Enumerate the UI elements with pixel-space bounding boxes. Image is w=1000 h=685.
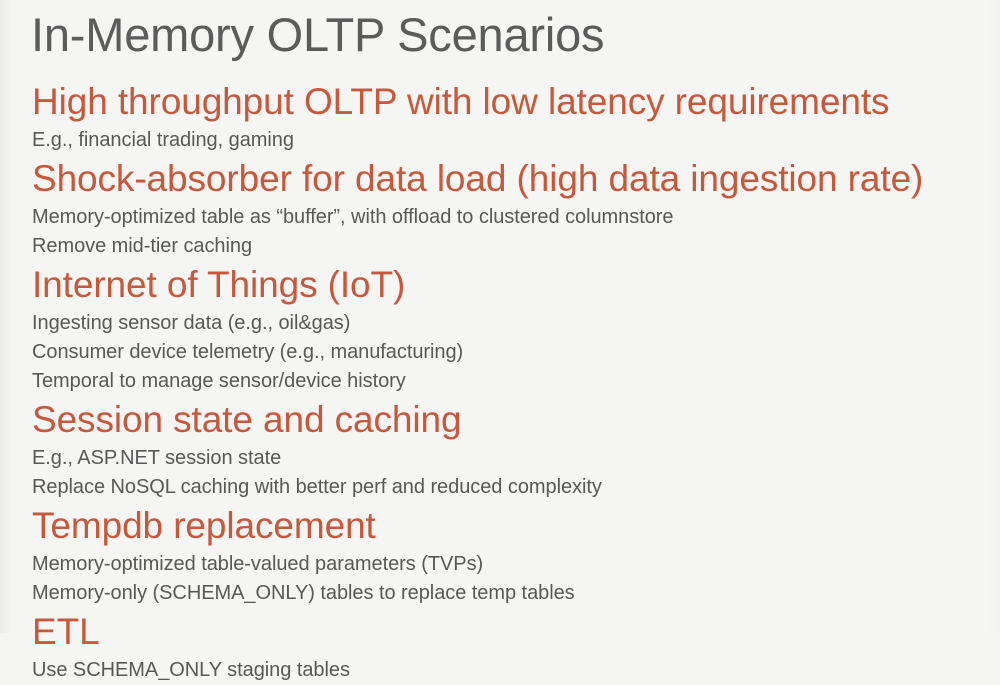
scenario-bullet: Temporal to manage sensor/device history [0, 367, 1000, 396]
scenario-section: Shock-absorber for data load (high data … [0, 155, 1000, 261]
scenario-heading: Internet of Things (IoT) [0, 261, 1000, 309]
slide-content-body: High throughput OLTP with low latency re… [0, 78, 1000, 685]
scenario-heading: Tempdb replacement [0, 502, 1000, 550]
scenario-bullet: Use SCHEMA_ONLY staging tables [0, 656, 1000, 685]
scenario-heading: High throughput OLTP with low latency re… [0, 78, 1000, 126]
scenario-bullet-list: Memory-optimized table-valued parameters… [0, 550, 1000, 608]
scenario-bullet-list: E.g., financial trading, gaming [0, 126, 1000, 155]
scenario-bullet: Memory-optimized table as “buffer”, with… [0, 203, 1000, 232]
scenario-bullet-list: Use SCHEMA_ONLY staging tables [0, 656, 1000, 685]
scenario-heading: Shock-absorber for data load (high data … [0, 155, 1000, 203]
scenario-bullet: Memory-only (SCHEMA_ONLY) tables to repl… [0, 579, 1000, 608]
scenario-heading: Session state and caching [0, 396, 1000, 444]
scenario-bullet: Remove mid-tier caching [0, 232, 1000, 261]
scenario-section: High throughput OLTP with low latency re… [0, 78, 1000, 155]
scenario-bullet-list: Memory-optimized table as “buffer”, with… [0, 203, 1000, 261]
scenario-section: ETLUse SCHEMA_ONLY staging tables [0, 608, 1000, 685]
scenario-bullet: Replace NoSQL caching with better perf a… [0, 473, 1000, 502]
scenario-section: Internet of Things (IoT)Ingesting sensor… [0, 261, 1000, 396]
scenario-heading: ETL [0, 608, 1000, 656]
scenario-bullet: Consumer device telemetry (e.g., manufac… [0, 338, 1000, 367]
slide-title: In-Memory OLTP Scenarios [31, 2, 604, 68]
scenario-bullet: E.g., financial trading, gaming [0, 126, 1000, 155]
scenario-bullet-list: E.g., ASP.NET session stateReplace NoSQL… [0, 444, 1000, 502]
scenario-section: Session state and cachingE.g., ASP.NET s… [0, 396, 1000, 502]
scenario-bullet: Ingesting sensor data (e.g., oil&gas) [0, 309, 1000, 338]
scenario-section: Tempdb replacementMemory-optimized table… [0, 502, 1000, 608]
scenario-bullet-list: Ingesting sensor data (e.g., oil&gas)Con… [0, 309, 1000, 396]
scenario-bullet: Memory-optimized table-valued parameters… [0, 550, 1000, 579]
scenario-bullet: E.g., ASP.NET session state [0, 444, 1000, 473]
presentation-slide: In-Memory OLTP Scenarios High throughput… [0, 0, 1000, 633]
